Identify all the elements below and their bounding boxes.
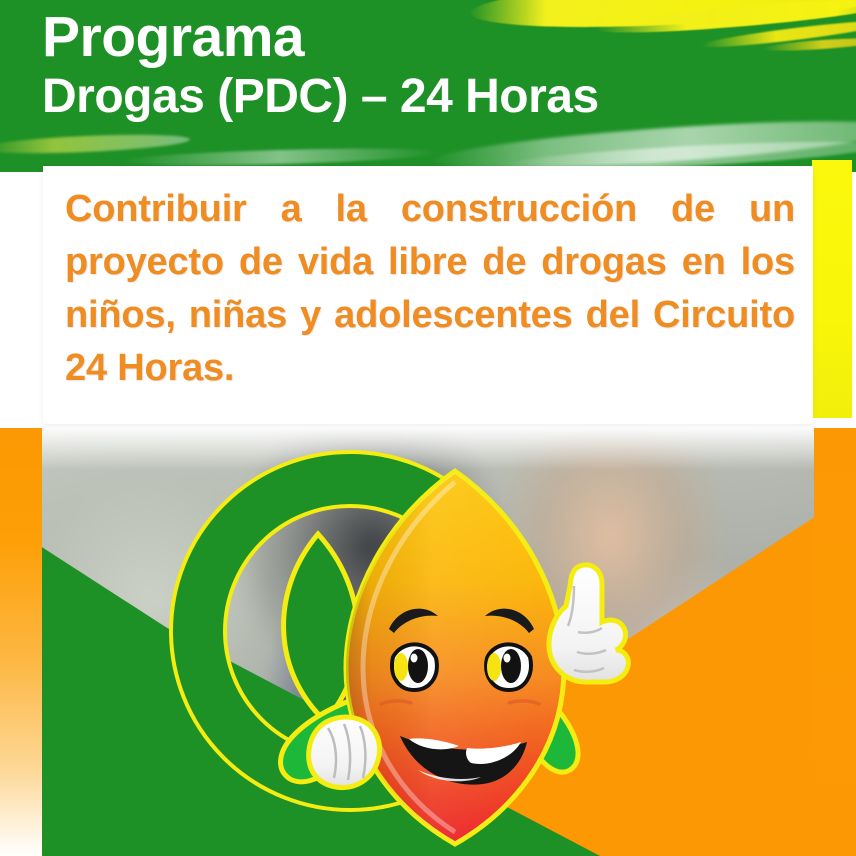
mascot-left-glove-icon — [309, 717, 380, 787]
photo-panel: Corporación Juégatela — [0, 428, 856, 856]
mascot-graphic — [150, 436, 650, 856]
page-title: Programa Drogas (PDC) – 24 Horas — [42, 6, 599, 126]
card-yellow-accent-bar — [812, 160, 852, 418]
white-brush-stroke-icon — [0, 131, 190, 156]
title-line-secondary: Drogas (PDC) – 24 Horas — [42, 68, 599, 126]
objective-text: Contribuir a la construcción de un proye… — [65, 183, 795, 395]
left-orange-bar — [0, 428, 42, 856]
poster-root: Programa Drogas (PDC) – 24 Horas Contrib… — [0, 0, 856, 856]
mascot-right-glove-icon — [549, 565, 628, 682]
right-orange-bar — [814, 428, 856, 856]
title-line-primary: Programa — [42, 6, 599, 68]
objective-card: Contribuir a la construcción de un proye… — [43, 166, 813, 424]
